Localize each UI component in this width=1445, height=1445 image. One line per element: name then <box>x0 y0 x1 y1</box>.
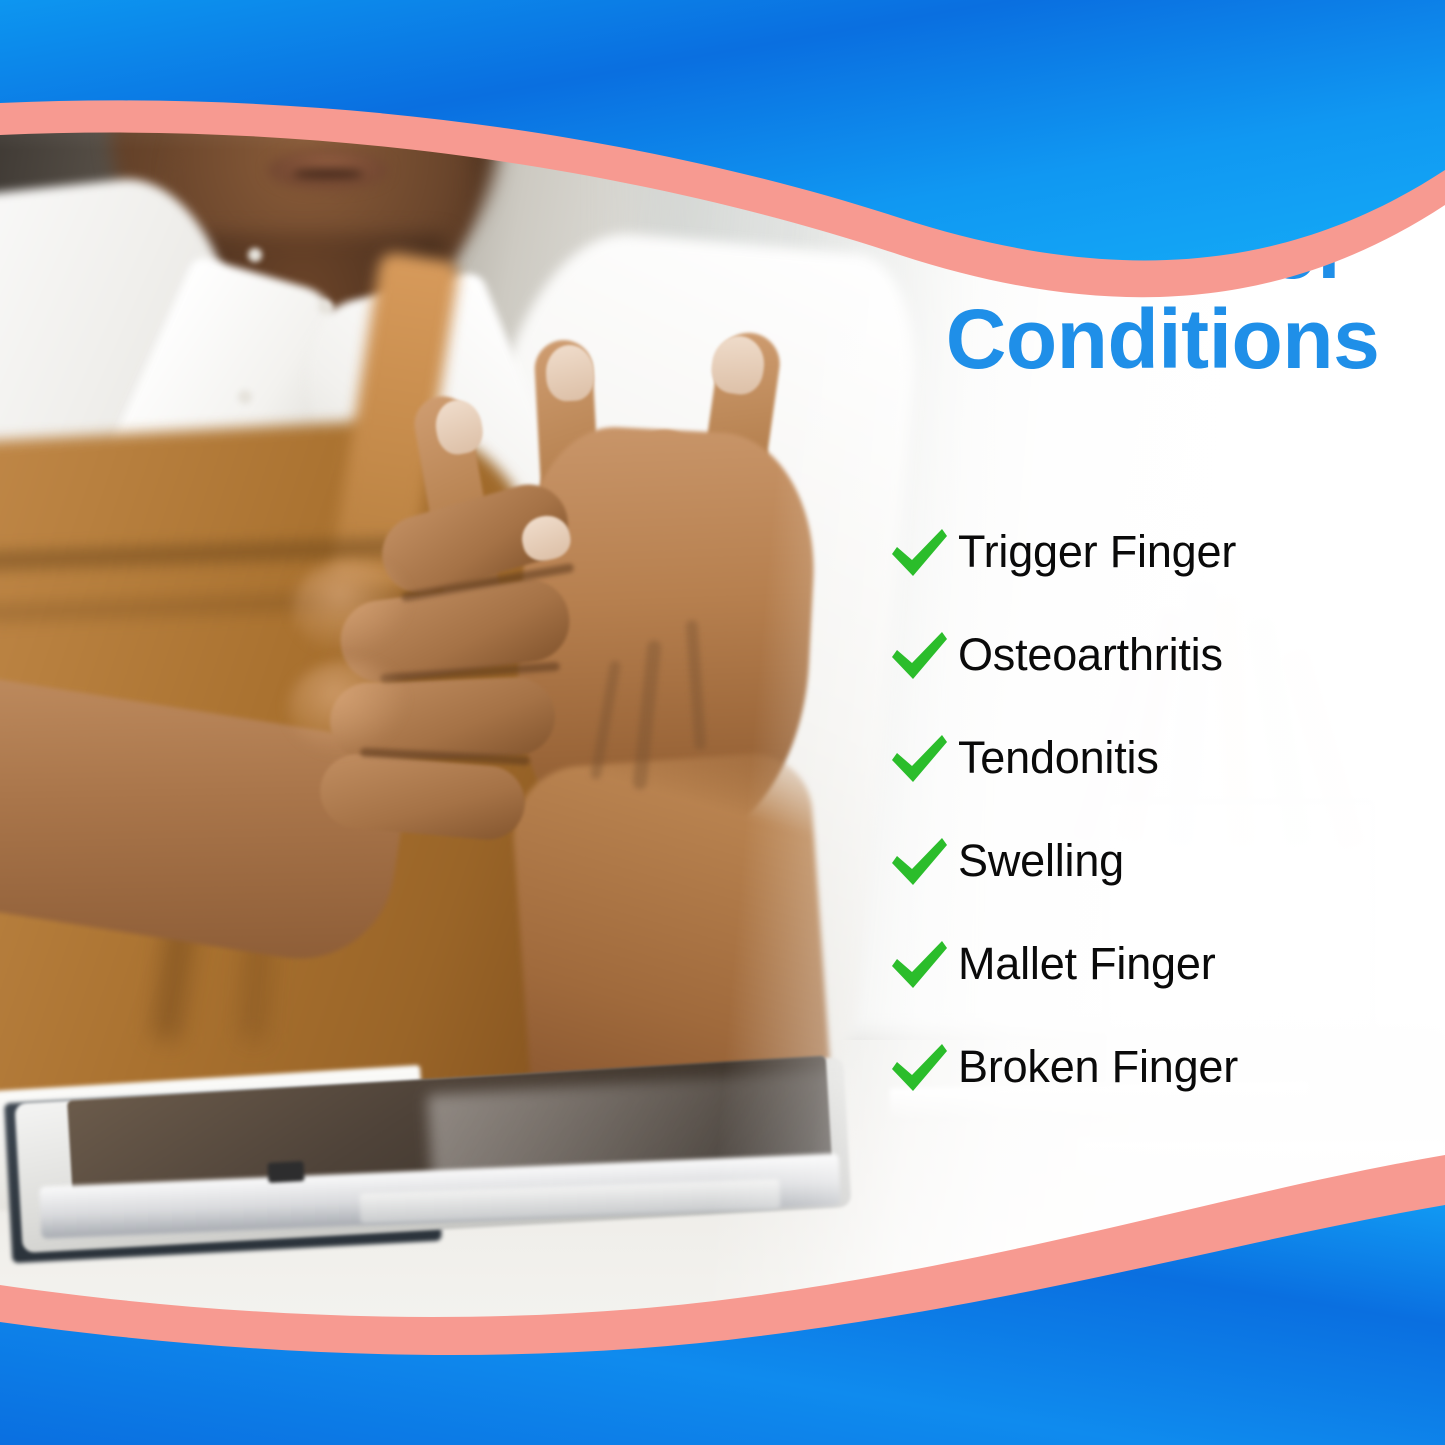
list-item: Swelling <box>880 809 1445 912</box>
title-line-1: Good For <box>976 202 1350 296</box>
title-line-2: Conditions <box>880 295 1445 385</box>
page-title: Good For Conditions <box>880 205 1445 385</box>
green-check-icon <box>880 1040 958 1094</box>
list-item-label: Broken Finger <box>958 1041 1238 1093</box>
list-item: Trigger Finger <box>880 500 1445 603</box>
green-check-icon <box>880 834 958 888</box>
green-check-icon <box>880 628 958 682</box>
infographic-canvas: Good For Conditions Trigger Finger Osteo… <box>0 0 1445 1445</box>
green-check-icon <box>880 525 958 579</box>
green-check-icon <box>880 937 958 991</box>
list-item-label: Mallet Finger <box>958 938 1216 990</box>
list-item-label: Swelling <box>958 835 1124 887</box>
list-item: Mallet Finger <box>880 912 1445 1015</box>
list-item-label: Trigger Finger <box>958 526 1236 578</box>
list-item: Osteoarthritis <box>880 603 1445 706</box>
conditions-list: Trigger Finger Osteoarthritis Tendonitis… <box>880 500 1445 1118</box>
list-item: Tendonitis <box>880 706 1445 809</box>
text-panel: Good For Conditions Trigger Finger Osteo… <box>880 0 1445 1445</box>
list-item: Broken Finger <box>880 1015 1445 1118</box>
list-item-label: Tendonitis <box>958 732 1159 784</box>
list-item-label: Osteoarthritis <box>958 629 1223 681</box>
green-check-icon <box>880 731 958 785</box>
